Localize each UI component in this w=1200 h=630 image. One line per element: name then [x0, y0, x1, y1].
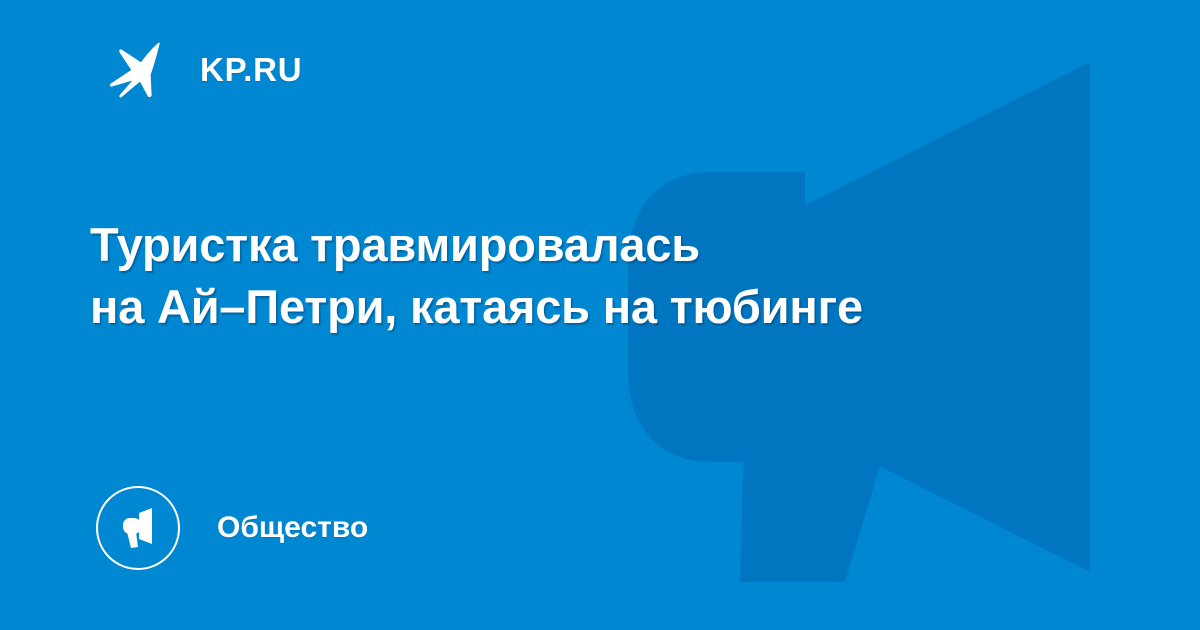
- headline-line-1: Туристка травмировалась: [90, 214, 1090, 276]
- page-title: Туристка травмировалась на Ай–Петри, кат…: [90, 214, 1090, 338]
- brand-name: KP.RU: [200, 53, 302, 86]
- megaphone-icon: [114, 504, 162, 552]
- swallow-bird-logo-icon: [108, 38, 170, 100]
- category-icon-ring: [96, 486, 180, 570]
- headline-line-2: на Ай–Петри, катаясь на тюбинге: [90, 276, 1090, 338]
- category-badge[interactable]: Общество: [96, 485, 368, 571]
- category-label: Общество: [217, 513, 368, 543]
- brand-header[interactable]: KP.RU: [108, 38, 302, 100]
- social-share-card: KP.RU Туристка травмировалась на Ай–Петр…: [0, 0, 1200, 630]
